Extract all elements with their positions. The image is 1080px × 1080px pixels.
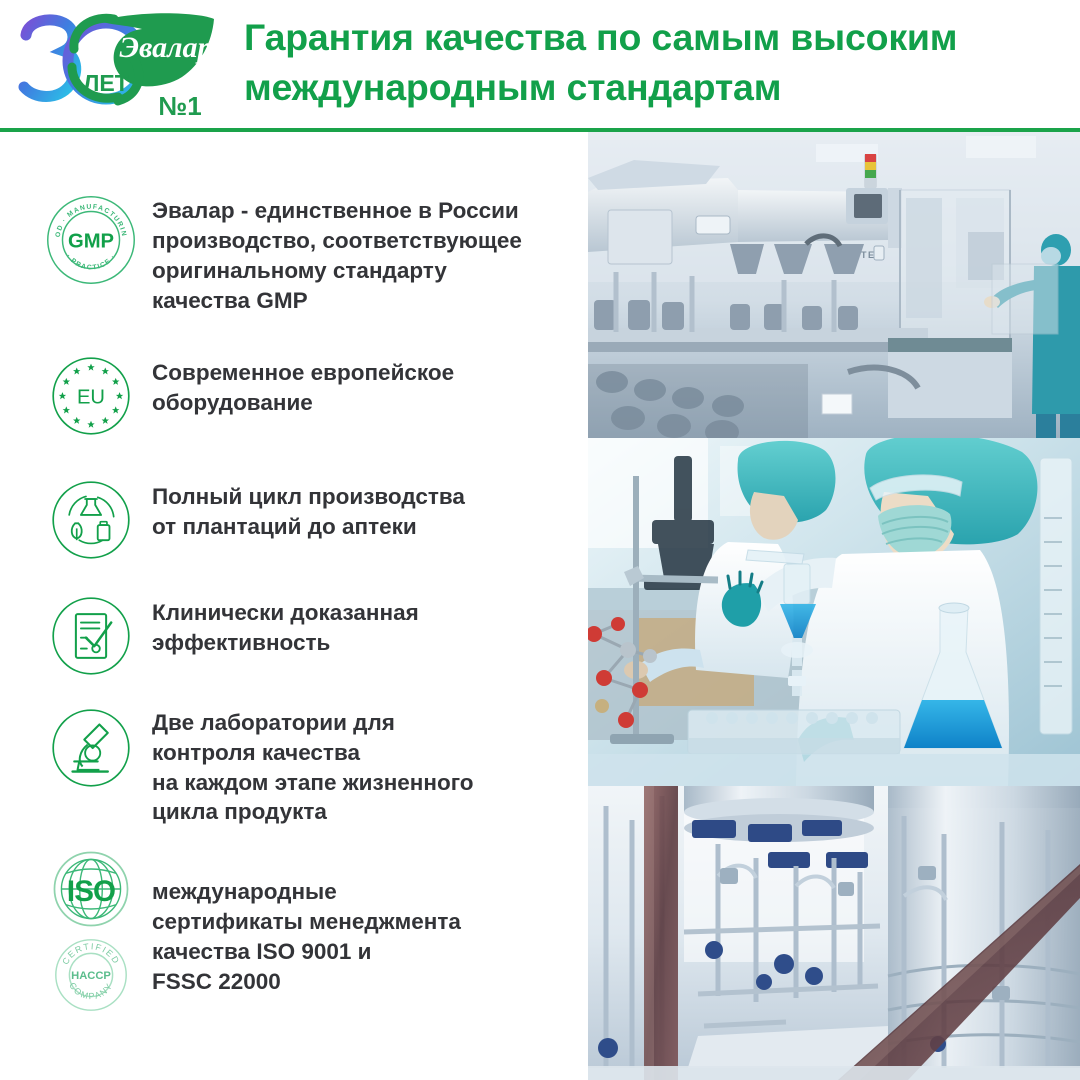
list-item-label: Полный цикл производства от плантаций до… xyxy=(146,478,465,542)
svg-text:EU: EU xyxy=(77,386,105,408)
list-item: Полный цикл производства от плантаций до… xyxy=(0,478,580,562)
text-line: эффективность xyxy=(152,628,419,658)
evalar-logo: Эвалар ЛЕТ №1 xyxy=(0,5,232,125)
feature-list: GOOD · MANUFACTURING · · PRACTICE · GMP … xyxy=(0,132,580,1080)
evalar-logo-mark: Эвалар ЛЕТ №1 xyxy=(14,13,224,121)
text-line: производство, соответствующее xyxy=(152,226,522,256)
text-line: FSSC 22000 xyxy=(152,967,461,997)
list-item: Две лаборатории для контроля качества на… xyxy=(0,706,580,828)
clipboard-check-icon xyxy=(36,594,146,678)
text-line: качества GMP xyxy=(152,286,522,316)
header: Эвалар ЛЕТ №1 Гарантия качества по самым… xyxy=(0,0,1080,130)
list-item-label: Клинически доказанная эффективность xyxy=(146,594,419,658)
text-line: от плантаций до аптеки xyxy=(152,512,465,542)
text-line: оборудование xyxy=(152,388,454,418)
iso-label: ISO xyxy=(67,876,115,909)
page-title-line-1: Гарантия качества по самым высоким xyxy=(244,13,957,63)
eu-badge-icon: EU xyxy=(36,354,146,438)
list-item-label: Современное европейское оборудование xyxy=(146,354,454,418)
content-area: GOOD · MANUFACTURING · · PRACTICE · GMP … xyxy=(0,132,1080,1080)
text-line: Эвалар - единственное в России xyxy=(152,196,522,226)
svg-text:· PRACTICE ·: · PRACTICE · xyxy=(65,253,118,271)
photo-packaging-line: COUNTEC xyxy=(588,132,1080,438)
production-cycle-icon xyxy=(36,478,146,562)
microscope-icon xyxy=(36,706,146,790)
list-item: EU Современное европейское оборудование xyxy=(0,354,580,438)
svg-text:GMP: GMP xyxy=(68,230,114,252)
text-line: сертификаты менеджмента xyxy=(152,907,461,937)
list-item-label: Эвалар - единственное в России производс… xyxy=(146,194,522,316)
list-item: Клинически доказанная эффективность xyxy=(0,594,580,678)
text-line: Современное европейское xyxy=(152,358,454,388)
svg-text:COMPANY: COMPANY xyxy=(67,981,115,1002)
iso-globe-icon: ISO xyxy=(47,849,135,929)
svg-text:HACCP: HACCP xyxy=(71,970,111,982)
text-line: международные xyxy=(152,877,461,907)
gmp-badge-icon: GOOD · MANUFACTURING · · PRACTICE · GMP xyxy=(36,194,146,286)
text-line: на каждом этапе жизненного xyxy=(152,768,474,798)
logo-years-text: ЛЕТ xyxy=(83,70,129,96)
photo-laboratory xyxy=(588,438,1080,786)
logo-name-text: Эвалар xyxy=(119,31,212,64)
text-line: качества ISO 9001 и xyxy=(152,937,461,967)
text-line: Полный цикл производства xyxy=(152,482,465,512)
list-item: GOOD · MANUFACTURING · · PRACTICE · GMP … xyxy=(0,194,580,316)
iso-haccp-badges-icon: ISO CERTIFIED COMPANY xyxy=(36,849,146,1015)
poster-root: Эвалар ЛЕТ №1 Гарантия качества по самым… xyxy=(0,0,1080,1080)
text-line: цикла продукта xyxy=(152,797,474,827)
list-item: ISO CERTIFIED COMPANY xyxy=(0,849,580,1015)
logo-rank-text: №1 xyxy=(158,91,201,121)
text-line: Две лаборатории для xyxy=(152,708,474,738)
page-title: Гарантия качества по самым высоким между… xyxy=(232,13,957,113)
well-plate xyxy=(688,710,900,754)
list-item-label: Две лаборатории для контроля качества на… xyxy=(146,706,474,828)
text-line: Клинически доказанная xyxy=(152,598,419,628)
text-line: оригинальному стандарту xyxy=(152,256,522,286)
photo-column: COUNTEC xyxy=(588,132,1080,1080)
page-title-line-2: международным стандартам xyxy=(244,63,957,113)
list-item-label: международные сертификаты менеджмента ка… xyxy=(146,849,461,997)
photo-production-plant xyxy=(588,786,1080,1080)
graduated-cylinder xyxy=(1040,458,1072,734)
text-line: контроля качества xyxy=(152,738,474,768)
haccp-badge-icon: CERTIFIED COMPANY HACCP xyxy=(51,935,131,1015)
